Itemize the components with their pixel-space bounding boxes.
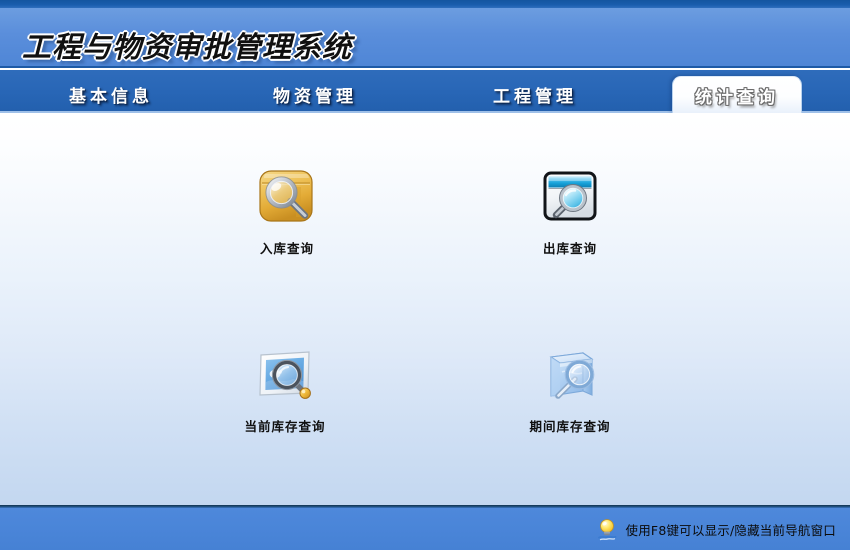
page-title: 工程与物资审批管理系统: [22, 24, 352, 66]
picture-search-icon: [253, 343, 317, 407]
tab-statistics-query[interactable]: 统计查询: [672, 76, 802, 113]
shortcut-outbound-query-label: 出库查询: [500, 238, 640, 257]
tab-material-management-label: 物资管理: [273, 82, 357, 107]
shortcut-period-stock-query-label: 期间库存查询: [500, 416, 640, 435]
shortcut-inbound-query-label: 入库查询: [217, 238, 357, 257]
status-hint-text: 使用F8键可以显示/隐藏当前导航窗口: [626, 520, 836, 539]
shortcut-outbound-query[interactable]: 出库查询: [500, 165, 640, 257]
folder-search-icon: [255, 165, 319, 229]
tab-project-management[interactable]: 工程管理: [460, 76, 610, 113]
tab-statistics-query-label: 统计查询: [695, 83, 779, 108]
window-search-icon: [538, 165, 602, 229]
shortcut-period-stock-query[interactable]: 期间库存查询: [500, 343, 640, 435]
status-hint: 使用F8键可以显示/隐藏当前导航窗口: [596, 517, 836, 541]
book-search-icon: [538, 343, 602, 407]
tab-basic-info-label: 基本信息: [69, 82, 153, 107]
lightbulb-icon: [596, 517, 618, 541]
status-bar: 使用F8键可以显示/隐藏当前导航窗口: [0, 508, 850, 550]
window-top-strip: [0, 0, 850, 8]
navigation-pane: 入库查询: [0, 113, 850, 505]
application-window: 工程与物资审批管理系统 基本信息 物资管理 工程管理 统计查询: [0, 0, 850, 550]
tab-project-management-label: 工程管理: [493, 82, 577, 107]
main-navigation-tabs: 基本信息 物资管理 工程管理 统计查询: [0, 70, 850, 113]
shortcut-inbound-query[interactable]: 入库查询: [217, 165, 357, 257]
shortcut-current-stock-query-label: 当前库存查询: [215, 416, 355, 435]
shortcut-grid: 入库查询: [0, 113, 850, 505]
shortcut-current-stock-query[interactable]: 当前库存查询: [215, 343, 355, 435]
title-band: 工程与物资审批管理系统: [0, 8, 850, 68]
tab-basic-info[interactable]: 基本信息: [36, 76, 186, 113]
tab-material-management[interactable]: 物资管理: [240, 76, 390, 113]
